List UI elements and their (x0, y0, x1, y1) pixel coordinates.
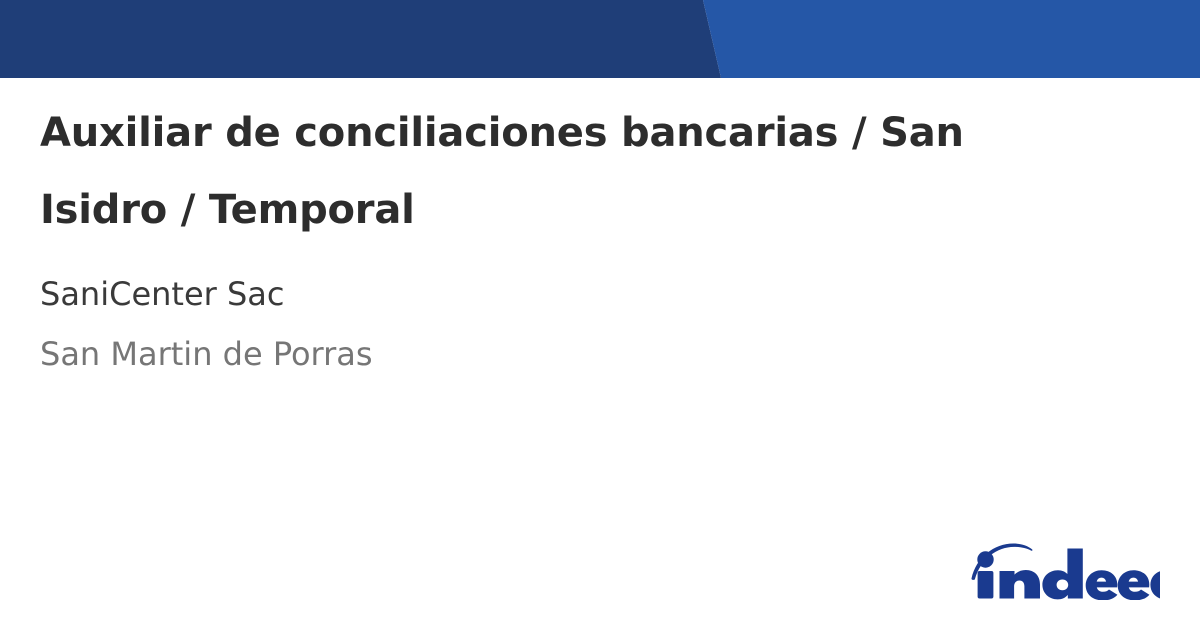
banner-light-section (703, 0, 1200, 78)
indeed-letter-n (1000, 570, 1041, 599)
job-share-card: Auxiliar de conciliaciones bancarias / S… (0, 0, 1200, 630)
indeed-i-dot (977, 551, 993, 567)
banner-dark-section (0, 0, 721, 78)
indeed-letter-d-1 (1042, 549, 1082, 600)
company-name: SaniCenter Sac (40, 249, 1100, 314)
indeed-letter-d-2 (1150, 549, 1160, 600)
indeed-letter-e-2 (1118, 570, 1150, 600)
job-info-block: Auxiliar de conciliaciones bancarias / S… (40, 78, 1100, 374)
job-title: Auxiliar de conciliaciones bancarias / S… (40, 78, 1040, 249)
top-banner (0, 0, 1200, 78)
indeed-logo (970, 538, 1160, 600)
company-location: San Martin de Porras (40, 314, 1100, 374)
indeed-letter-e-1 (1086, 570, 1118, 600)
indeed-letter-i (978, 571, 994, 599)
